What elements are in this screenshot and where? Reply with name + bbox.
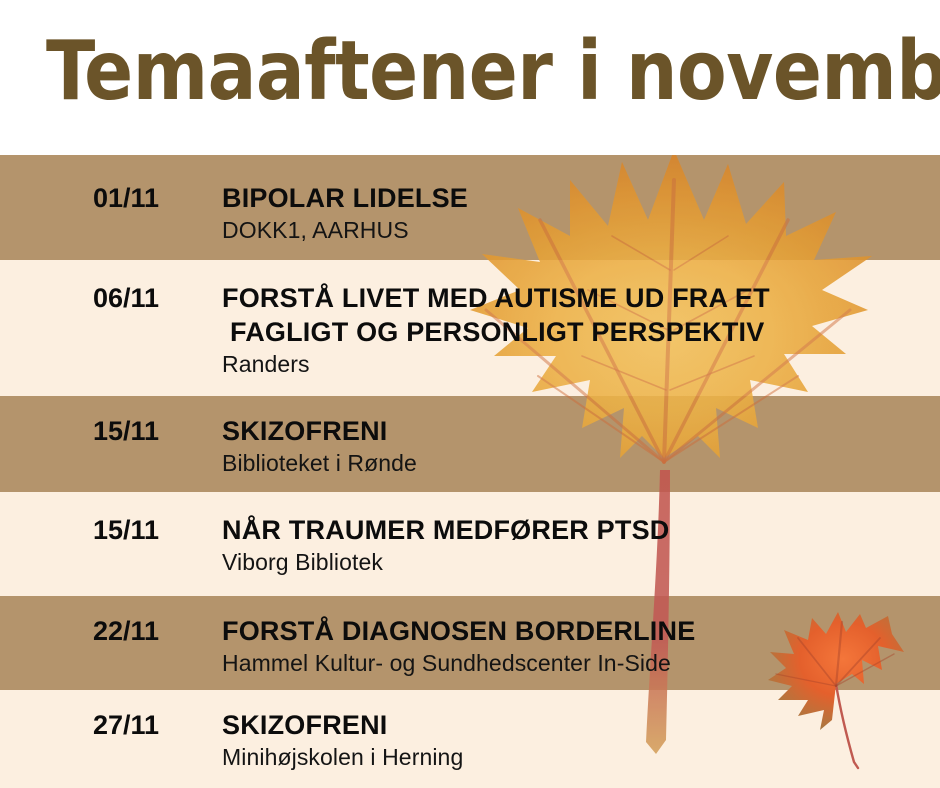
event-title-line: SKIZOFRENI: [222, 708, 922, 742]
event-title-line-2: FAGLIGT OG PERSONLIGT PERSPEKTIV: [222, 315, 922, 349]
event-date: 15/11: [46, 513, 206, 547]
event-body: NÅR TRAUMER MEDFØRER PTSD Viborg Bibliot…: [222, 513, 922, 577]
event-venue: Biblioteket i Rønde: [222, 448, 922, 478]
event-date: 06/11: [46, 281, 206, 315]
event-date: 15/11: [46, 414, 206, 448]
event-row: 15/11 NÅR TRAUMER MEDFØRER PTSD Viborg B…: [0, 492, 940, 596]
page-title: Temaaftener i november: [46, 26, 891, 118]
event-title-line: FORSTÅ LIVET MED AUTISME UD FRA ET: [222, 281, 922, 315]
event-date: 22/11: [46, 614, 206, 648]
event-venue: Minihøjskolen i Herning: [222, 742, 922, 772]
event-row: 01/11 BIPOLAR LIDELSE DOKK1, AARHUS: [0, 155, 940, 260]
event-venue: Viborg Bibliotek: [222, 547, 922, 577]
event-row: 15/11 SKIZOFRENI Biblioteket i Rønde: [0, 396, 940, 492]
event-title-line: NÅR TRAUMER MEDFØRER PTSD: [222, 513, 922, 547]
event-venue: DOKK1, AARHUS: [222, 215, 922, 245]
title-bar: Temaaftener i november: [0, 0, 940, 155]
event-venue: Hammel Kultur- og Sundhedscenter In-Side: [222, 648, 922, 678]
event-body: FORSTÅ LIVET MED AUTISME UD FRA ET FAGLI…: [222, 281, 922, 379]
event-row: 06/11 FORSTÅ LIVET MED AUTISME UD FRA ET…: [0, 260, 940, 396]
event-body: BIPOLAR LIDELSE DOKK1, AARHUS: [222, 181, 922, 245]
event-title-line: BIPOLAR LIDELSE: [222, 181, 922, 215]
event-body: SKIZOFRENI Minihøjskolen i Herning: [222, 708, 922, 772]
event-row: 27/11 SKIZOFRENI Minihøjskolen i Herning: [0, 690, 940, 788]
event-body: FORSTÅ DIAGNOSEN BORDERLINE Hammel Kultu…: [222, 614, 922, 678]
event-date: 27/11: [46, 708, 206, 742]
event-row: 22/11 FORSTÅ DIAGNOSEN BORDERLINE Hammel…: [0, 596, 940, 690]
event-date: 01/11: [46, 181, 206, 215]
event-title-line: SKIZOFRENI: [222, 414, 922, 448]
event-venue: Randers: [222, 349, 922, 379]
event-poster: Temaaftener i november 01/11 BIPOLAR LID…: [0, 0, 940, 788]
event-title-line: FORSTÅ DIAGNOSEN BORDERLINE: [222, 614, 922, 648]
event-body: SKIZOFRENI Biblioteket i Rønde: [222, 414, 922, 478]
